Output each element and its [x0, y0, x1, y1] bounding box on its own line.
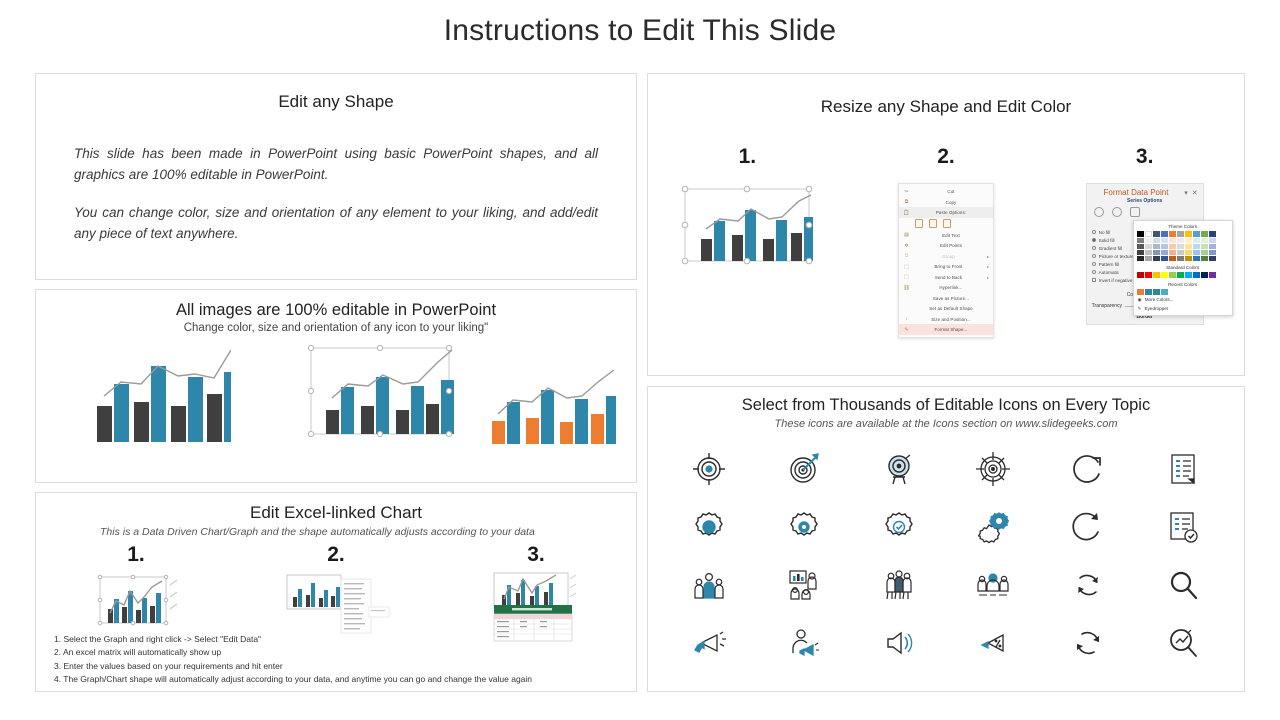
step-number-1: 1. [36, 543, 236, 567]
swatch-tint-40[interactable] [1209, 256, 1216, 261]
excel-step-3: 3. [436, 543, 636, 643]
swatch-tint-1[interactable] [1137, 238, 1144, 243]
swatch-theme-6[interactable] [1177, 231, 1184, 237]
excel-step-text-2: 2. An excel matrix will automatically sh… [54, 646, 532, 659]
recent-colors-label: Recent Colors [1137, 281, 1229, 289]
resize-number-1: 1. [648, 145, 847, 169]
gear-check-icon[interactable] [879, 507, 919, 547]
swatch-tint-19[interactable] [1201, 244, 1208, 249]
swatch-tint-7[interactable] [1185, 238, 1192, 243]
swatch-tint-30[interactable] [1209, 250, 1216, 255]
swatch-tint-38[interactable] [1193, 256, 1200, 261]
excel-steps-row: 1. [36, 543, 636, 643]
swatch-tint-23[interactable] [1153, 250, 1160, 255]
swatch-tint-15[interactable] [1169, 244, 1176, 249]
paste-option-buttons[interactable] [899, 218, 993, 230]
format-data-point-pane[interactable]: Format Data Point ▾ ✕ Series Options Fil… [1086, 183, 1204, 325]
presentation-people-icon[interactable] [784, 565, 824, 605]
swatch-tint-9[interactable] [1201, 238, 1208, 243]
swatch-tint-36[interactable] [1177, 256, 1184, 261]
panel-title-edit-shape: Edit any Shape [36, 91, 636, 112]
resize-selected-chart[interactable] [679, 183, 815, 267]
resize-number-2: 2. [847, 145, 1046, 169]
slide-root: Instructions to Edit This Slide Edit any… [0, 0, 1280, 720]
format-pane-title: Format Data Point [1092, 188, 1181, 197]
panel-edit-any-shape: Edit any Shape This slide has been made … [35, 73, 637, 280]
swatch-std-4[interactable] [1161, 272, 1168, 278]
paste-keep-formatting-icon[interactable] [915, 219, 923, 228]
swatch-tint-4[interactable] [1161, 238, 1168, 243]
panel-subtitle-all-images: Change color, size and orientation of an… [36, 322, 636, 334]
excel-step-text-4: 4. The Graph/Chart shape will automatica… [54, 673, 532, 686]
swatch-theme-2[interactable] [1145, 231, 1152, 237]
swatch-tint-13[interactable] [1153, 244, 1160, 249]
swatch-tint-16[interactable] [1177, 244, 1184, 249]
megaphone-percent-icon[interactable] [973, 623, 1013, 663]
step-number-3: 3. [436, 543, 636, 567]
effects-tab-icon[interactable] [1112, 207, 1122, 217]
team-people-icon[interactable] [689, 565, 729, 605]
theme-tint-row-2[interactable] [1137, 244, 1229, 249]
swatch-tint-20[interactable] [1209, 244, 1216, 249]
scissors-icon: ✂ [903, 189, 910, 195]
ctx-item-group[interactable]: ⧉ Group ▸ [899, 251, 993, 262]
swatch-theme-1[interactable] [1137, 231, 1144, 237]
swatch-tint-8[interactable] [1193, 238, 1200, 243]
excel-step-text-3: 3. Enter the values based on your requir… [54, 660, 532, 673]
palette-icon: ◉ [1138, 297, 1142, 303]
swatch-tint-6[interactable] [1177, 238, 1184, 243]
radio-icon[interactable] [1092, 270, 1096, 274]
excel-step-text-1: 1. Select the Graph and right click -> S… [54, 633, 532, 646]
resize-step-1: 1. [648, 145, 847, 363]
gear-center-icon[interactable] [784, 507, 824, 547]
swatch-std-10[interactable] [1209, 272, 1216, 278]
swatch-theme-3[interactable] [1153, 231, 1160, 237]
radio-icon[interactable] [1092, 254, 1096, 258]
swatch-recent-2[interactable] [1145, 289, 1152, 295]
excel-instruction-list: 1. Select the Graph and right click -> S… [54, 633, 532, 686]
gear-filled-icon[interactable] [689, 507, 729, 547]
target-crosshair-icon[interactable] [689, 449, 729, 489]
ctx-item-cut[interactable]: ✂ Cut [899, 186, 993, 197]
swatch-theme-7[interactable] [1185, 231, 1192, 237]
bar-chart-dark-blue[interactable] [91, 344, 231, 444]
panel-title-icons: Select from Thousands of Editable Icons … [648, 395, 1244, 416]
excel-thumb-chart-selected[interactable] [88, 571, 184, 633]
circular-arrows-icon[interactable] [1068, 623, 1108, 663]
checklist-document-icon[interactable] [1163, 449, 1203, 489]
edit-shape-paragraph-2: You can change color, size and orientati… [74, 203, 598, 245]
panel-resize-and-edit-color: Resize any Shape and Edit Color 1. [647, 73, 1245, 376]
swatch-theme-9[interactable] [1201, 231, 1208, 237]
close-icon[interactable]: ✕ [1192, 189, 1198, 197]
format-shape-icon: ✎ [903, 327, 910, 333]
swatch-recent-1[interactable] [1137, 289, 1144, 295]
swatch-tint-3[interactable] [1153, 238, 1160, 243]
ctx-item-edit-points[interactable]: ✲ Edit Points [899, 240, 993, 251]
person-megaphone-icon[interactable] [784, 623, 824, 663]
theme-tint-row-3[interactable] [1137, 250, 1229, 255]
ctx-item-copy[interactable]: ⧉ Copy [899, 197, 993, 208]
clipboard-icon: 📋 [903, 210, 910, 216]
ctx-item-set-default-shape[interactable]: Set as Default Shape [899, 303, 993, 314]
reload-circle-icon[interactable] [1068, 507, 1108, 547]
resize-step-3: 3. Format Data Point ▾ ✕ Series Options [1045, 145, 1244, 363]
swatch-theme-4[interactable] [1161, 231, 1168, 237]
paste-picture-icon[interactable] [929, 219, 937, 228]
swatch-tint-26[interactable] [1177, 250, 1184, 255]
swatch-tint-32[interactable] [1145, 256, 1152, 261]
swatch-tint-11[interactable] [1137, 244, 1144, 249]
bar-chart-orange-blue[interactable] [486, 366, 616, 446]
swatch-tint-25[interactable] [1169, 250, 1176, 255]
theme-colors-label: Theme Colors [1137, 223, 1229, 231]
resize-number-3: 3. [1045, 145, 1244, 169]
theme-colors-row[interactable] [1137, 231, 1229, 237]
panel-editable-icons: Select from Thousands of Editable Icons … [647, 386, 1245, 692]
swatch-tint-2[interactable] [1145, 238, 1152, 243]
swatch-tint-18[interactable] [1193, 244, 1200, 249]
ctx-item-edit-text[interactable]: ▤ Edit Text [899, 230, 993, 241]
standard-colors-row[interactable] [1137, 272, 1229, 278]
swatch-tint-24[interactable] [1161, 250, 1168, 255]
more-colors-item[interactable]: ◉ More Colors... [1137, 295, 1229, 304]
ctx-item-hyperlink[interactable]: ⛓ Hyperlink... [899, 282, 993, 293]
swatch-tint-27[interactable] [1185, 250, 1192, 255]
submenu-arrow-icon: ▸ [987, 254, 989, 259]
series-tab-icon[interactable] [1130, 207, 1140, 217]
edit-shape-paragraph-1: This slide has been made in PowerPoint u… [74, 144, 598, 186]
swatch-tint-31[interactable] [1137, 256, 1144, 261]
standard-colors-label: Standard Colors [1137, 264, 1229, 272]
bring-front-icon: ⬚ [903, 264, 910, 270]
swatch-tint-10[interactable] [1209, 238, 1216, 243]
swatch-theme-5[interactable] [1169, 231, 1176, 237]
panel-edit-excel-linked-chart: Edit Excel-linked Chart This is a Data D… [35, 492, 637, 692]
edit-points-icon: ✲ [903, 243, 910, 249]
magnifier-chart-icon[interactable] [1163, 623, 1203, 663]
swatch-recent-3[interactable] [1153, 289, 1160, 295]
radio-icon[interactable] [1092, 230, 1096, 234]
refresh-arrow-icon[interactable] [1068, 449, 1108, 489]
panel-all-images-editable: All images are 100% editable in PowerPoi… [35, 289, 637, 483]
submenu-arrow-icon: ▸ [987, 275, 989, 280]
swatch-tint-34[interactable] [1161, 256, 1168, 261]
panel-title-all-images: All images are 100% editable in PowerPoi… [36, 300, 636, 321]
sync-arrows-icon[interactable] [1068, 565, 1108, 605]
swatch-tint-21[interactable] [1137, 250, 1144, 255]
chevron-down-icon[interactable]: ▾ [1184, 189, 1188, 197]
swatch-std-2[interactable] [1145, 272, 1152, 278]
swatch-std-8[interactable] [1193, 272, 1200, 278]
ctx-item-paste-options[interactable]: 📋 Paste Options: [899, 207, 993, 218]
swatch-tint-29[interactable] [1201, 250, 1208, 255]
swatch-theme-10[interactable] [1209, 231, 1216, 237]
size-position-icon: ↕ [903, 316, 910, 322]
gears-pair-icon[interactable] [973, 507, 1013, 547]
excel-thumb-context-menu[interactable] [281, 571, 391, 637]
swatch-std-3[interactable] [1153, 272, 1160, 278]
panel-subtitle-icons: These icons are available at the Icons s… [648, 418, 1244, 430]
swatch-std-1[interactable] [1137, 272, 1144, 278]
swatch-std-6[interactable] [1177, 272, 1184, 278]
panel-title-excel: Edit Excel-linked Chart [36, 502, 636, 523]
panel-title-resize: Resize any Shape and Edit Color [648, 96, 1244, 117]
speaker-icon[interactable] [879, 623, 919, 663]
bar-chart-selected[interactable] [304, 342, 456, 446]
swatch-tint-17[interactable] [1185, 244, 1192, 249]
panel-subtitle-excel: This is a Data Driven Chart/Graph and th… [100, 525, 612, 539]
link-icon: ⛓ [903, 285, 910, 291]
ctx-item-send-to-back[interactable]: ⬚ Send to Back ▸ [899, 272, 993, 283]
swatch-std-9[interactable] [1201, 272, 1208, 278]
radio-icon-selected[interactable] [1092, 238, 1096, 242]
megaphone-icon[interactable] [689, 623, 729, 663]
ctx-item-save-as-picture[interactable]: Save as Picture... [899, 293, 993, 304]
copy-icon: ⧉ [903, 199, 910, 205]
page-title: Instructions to Edit This Slide [0, 14, 1280, 48]
radio-icon[interactable] [1092, 262, 1096, 266]
crosshair-target-icon[interactable] [973, 449, 1013, 489]
edit-text-icon: ▤ [903, 232, 910, 238]
shape-context-menu[interactable]: ✂ Cut ⧉ Copy 📋 Paste Options: [898, 183, 994, 338]
submenu-arrow-icon: ▸ [987, 264, 989, 269]
swatch-std-7[interactable] [1185, 272, 1192, 278]
group-icon: ⧉ [903, 253, 910, 259]
icon-gallery-grid [662, 440, 1230, 672]
excel-step-2: 2. [236, 543, 436, 643]
ctx-item-format-shape[interactable]: ✎ Format Shape... [899, 324, 993, 335]
eyedropper-icon: ✎ [1138, 306, 1142, 312]
ctx-item-bring-to-front[interactable]: ⬚ Bring to Front ▸ [899, 261, 993, 272]
team-meeting-icon[interactable] [973, 565, 1013, 605]
checkbox-icon[interactable] [1092, 278, 1096, 282]
format-pane-tabs[interactable] [1087, 204, 1203, 219]
resize-steps-row: 1. [648, 145, 1244, 363]
send-back-icon: ⬚ [903, 274, 910, 280]
ctx-item-size-and-position[interactable]: ↕ Size and Position... [899, 314, 993, 325]
step-number-2: 2. [236, 543, 436, 567]
swatch-tint-33[interactable] [1153, 256, 1160, 261]
resize-step-2: 2. ✂ Cut ⧉ Copy 📋 Paste Option [847, 145, 1046, 363]
color-picker-flyout[interactable]: Theme Colors [1133, 220, 1233, 316]
swatch-tint-5[interactable] [1169, 238, 1176, 243]
excel-step-1: 1. [36, 543, 236, 643]
swatch-tint-37[interactable] [1185, 256, 1192, 261]
sample-charts-row [36, 338, 636, 446]
swatch-tint-35[interactable] [1169, 256, 1176, 261]
group-people-icon[interactable] [879, 565, 919, 605]
radio-icon[interactable] [1092, 246, 1096, 250]
swatch-tint-28[interactable] [1193, 250, 1200, 255]
magnifier-icon[interactable] [1163, 565, 1203, 605]
swatch-theme-8[interactable] [1193, 231, 1200, 237]
swatch-tint-14[interactable] [1161, 244, 1168, 249]
target-stand-icon[interactable] [879, 449, 919, 489]
eyedropper-item[interactable]: ✎ Eyedropper [1137, 304, 1229, 313]
swatch-tint-22[interactable] [1145, 250, 1152, 255]
swatch-std-5[interactable] [1169, 272, 1176, 278]
dartboard-arrow-icon[interactable] [784, 449, 824, 489]
paste-text-icon[interactable] [943, 219, 951, 228]
theme-tint-row-4[interactable] [1137, 256, 1229, 261]
fill-line-tab-icon[interactable] [1094, 207, 1104, 217]
swatch-recent-4[interactable] [1161, 289, 1168, 295]
document-check-icon[interactable] [1163, 507, 1203, 547]
transparency-label: Transparency [1092, 303, 1122, 309]
swatch-tint-39[interactable] [1201, 256, 1208, 261]
swatch-tint-12[interactable] [1145, 244, 1152, 249]
theme-tint-row-1[interactable] [1137, 238, 1229, 243]
